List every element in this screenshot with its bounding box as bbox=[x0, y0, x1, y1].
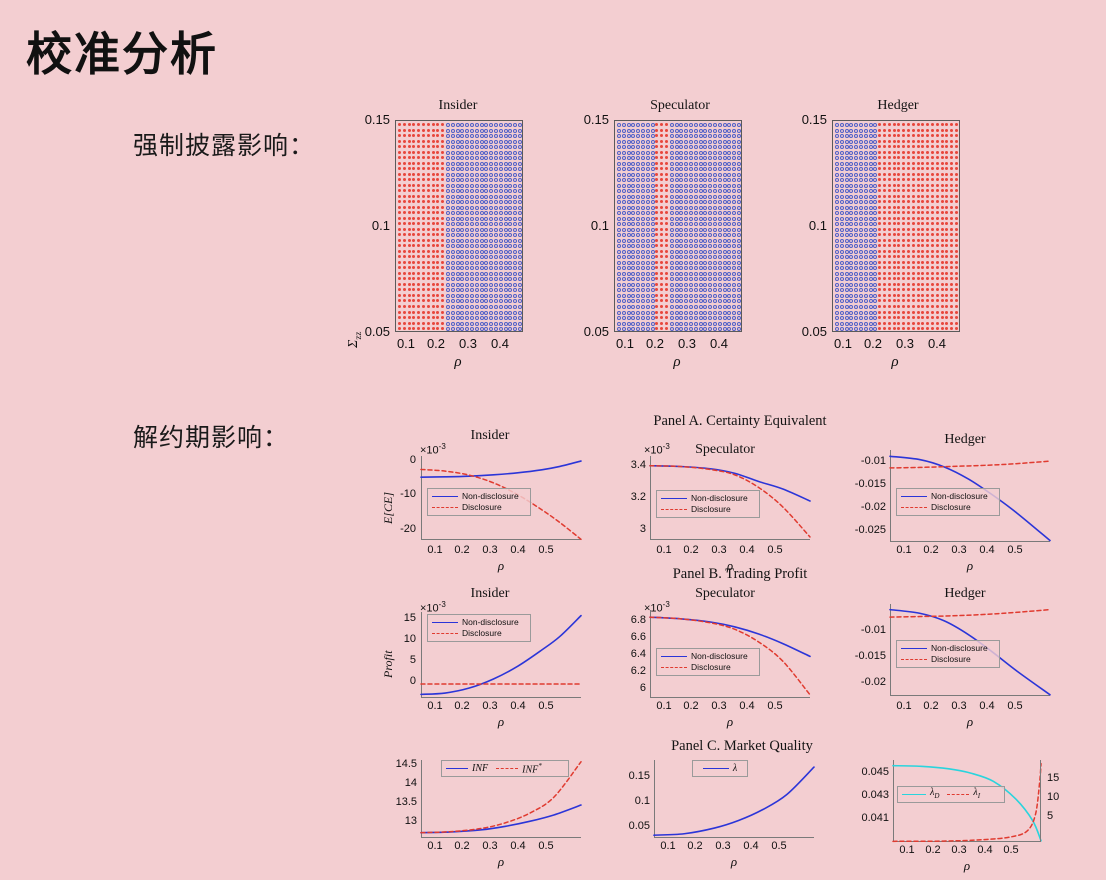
panelB-insider-xtick-05: 0.5 bbox=[534, 700, 558, 712]
panelA-insider-figure: Insider ×10-3 E[CE] 0 -10 -20 Non-disclo… bbox=[375, 428, 605, 558]
scatter-speculator-xtick-01: 0.1 bbox=[611, 336, 639, 351]
page-title: 校准分析 bbox=[26, 18, 218, 84]
panelB-hedger-ytick-001: -0.01 bbox=[840, 624, 886, 636]
panelA-insider-legend: Non-disclosure Disclosure bbox=[427, 488, 531, 516]
panelA-insider-multiplier: ×10-3 bbox=[420, 442, 446, 457]
panelA-hedger-legend: Non-disclosure Disclosure bbox=[896, 488, 1000, 516]
legend-swatch-disclosure bbox=[432, 633, 458, 634]
panelB-speculator-figure: Speculator ×10-3 6.8 6.6 6.4 6.2 6 Non-d… bbox=[610, 582, 840, 712]
panelB-insider-ytick-10: 10 bbox=[380, 633, 416, 645]
panelA-insider-xtick-02: 0.2 bbox=[450, 544, 474, 556]
legend-label-non-disclosure: Non-disclosure bbox=[691, 651, 748, 662]
scatter-speculator-ytick-005: 0.05 bbox=[563, 324, 609, 339]
label-maturity-impact: 解约期影响： bbox=[133, 418, 289, 454]
scatter-figure-group: Σzz Insider 0.15 0.1 0.05 0.1 0.2 0.3 0.… bbox=[330, 98, 1070, 378]
panelC-inf-ytick-14: 14 bbox=[375, 777, 417, 789]
panelC-lambda-legend: λ bbox=[692, 760, 748, 777]
scatter-insider-xtick-03: 0.3 bbox=[454, 336, 482, 351]
scatter-hedger-points bbox=[832, 120, 960, 332]
panelC-ldi-ytick-right-15: 15 bbox=[1047, 772, 1077, 784]
panelA-insider-ytick-m10: -10 bbox=[380, 488, 416, 500]
scatter-insider-xtick-02: 0.2 bbox=[422, 336, 450, 351]
legend-label-lambda-i: λI bbox=[973, 787, 980, 802]
legend-swatch-inf-star bbox=[496, 768, 518, 769]
legend-swatch-non-disclosure bbox=[432, 496, 458, 497]
panelA-hedger-title: Hedger bbox=[890, 432, 1040, 448]
panelB-hedger-xtick-02: 0.2 bbox=[919, 700, 943, 712]
panelC-inf-xtick-03: 0.3 bbox=[478, 840, 502, 852]
panelA-hedger-xtick-05: 0.5 bbox=[1003, 544, 1027, 556]
panelB-insider-xtick-04: 0.4 bbox=[506, 700, 530, 712]
panelC-ldi-ytick-right-5: 5 bbox=[1047, 810, 1077, 822]
legend-label-inf: INF bbox=[472, 763, 488, 774]
panelA-hedger-xtick-04: 0.4 bbox=[975, 544, 999, 556]
panelA-speculator-xtick-04: 0.4 bbox=[735, 544, 759, 556]
panelC-inf-xlabel: ρ bbox=[421, 854, 581, 870]
panelC-ldi-xtick-04: 0.4 bbox=[973, 844, 997, 856]
panelC-ldi-xtick-03: 0.3 bbox=[947, 844, 971, 856]
panelA-hedger-ytick-0015: -0.015 bbox=[840, 478, 886, 490]
scatter-hedger-xtick-01: 0.1 bbox=[829, 336, 857, 351]
panelC-lambda-xtick-04: 0.4 bbox=[739, 840, 763, 852]
panelB-hedger-xtick-01: 0.1 bbox=[892, 700, 916, 712]
panelC-lambda-ytick-005: 0.05 bbox=[610, 820, 650, 832]
panelB-speculator-xlabel: ρ bbox=[650, 714, 810, 730]
legend-label-non-disclosure: Non-disclosure bbox=[931, 643, 988, 654]
scatter-speculator-xtick-04: 0.4 bbox=[705, 336, 733, 351]
panelB-speculator-title: Speculator bbox=[650, 586, 800, 602]
panelA-speculator-ytick-32: 3.2 bbox=[610, 491, 646, 503]
scatter-speculator-xtick-02: 0.2 bbox=[641, 336, 669, 351]
panelA-speculator-multiplier: ×10-3 bbox=[644, 442, 670, 457]
panelA-insider-xtick-01: 0.1 bbox=[423, 544, 447, 556]
panelC-ldi-ytick-0041: 0.041 bbox=[845, 812, 889, 824]
panelB-speculator-xtick-05: 0.5 bbox=[763, 700, 787, 712]
panelB-hedger-legend: Non-disclosure Disclosure bbox=[896, 640, 1000, 668]
panelC-inf-xtick-02: 0.2 bbox=[450, 840, 474, 852]
scatter-speculator-ytick-01: 0.1 bbox=[563, 218, 609, 233]
scatter-speculator-ytick-015: 0.15 bbox=[563, 112, 609, 127]
legend-label-disclosure: Disclosure bbox=[931, 502, 971, 513]
panelC-ldi-xtick-02: 0.2 bbox=[921, 844, 945, 856]
panelC-ldi-ytick-right-10: 10 bbox=[1047, 791, 1077, 803]
panelC-inf-ytick-145: 14.5 bbox=[375, 758, 417, 770]
scatter-insider-ytick-015: 0.15 bbox=[344, 112, 390, 127]
legend-swatch-non-disclosure bbox=[901, 496, 927, 497]
scatter-insider-ytick-01: 0.1 bbox=[344, 218, 390, 233]
panelC-inf-legend: INF INF* bbox=[441, 760, 569, 777]
panelC-lambda-di-figure: 0.045 0.043 0.041 15 10 5 λD λI 0.1 0.2 … bbox=[845, 750, 1095, 880]
panelB-speculator-ytick-64: 6.4 bbox=[610, 648, 646, 660]
panelB-insider-xlabel: ρ bbox=[421, 714, 581, 730]
legend-label-non-disclosure: Non-disclosure bbox=[691, 493, 748, 504]
panelC-inf-xtick-04: 0.4 bbox=[506, 840, 530, 852]
legend-swatch-disclosure bbox=[432, 507, 458, 508]
panelB-speculator-legend: Non-disclosure Disclosure bbox=[656, 648, 760, 676]
panelB-insider-figure: Insider ×10-3 Profit 15 10 5 0 Non-discl… bbox=[375, 582, 605, 712]
legend-swatch-non-disclosure bbox=[661, 656, 687, 657]
series-- bbox=[654, 767, 814, 835]
panelA-insider-ytick-0: 0 bbox=[380, 454, 416, 466]
panelA-insider-ytick-m20: -20 bbox=[380, 523, 416, 535]
series-inf bbox=[421, 805, 581, 833]
panelB-hedger-ytick-0015: -0.015 bbox=[840, 650, 886, 662]
panelA-speculator-xtick-03: 0.3 bbox=[707, 544, 731, 556]
scatter-hedger-xlabel: ρ bbox=[830, 354, 960, 371]
legend-swatch-non-disclosure bbox=[901, 648, 927, 649]
legend-label-disclosure: Disclosure bbox=[462, 628, 502, 639]
scatter-hedger-ytick-01: 0.1 bbox=[781, 218, 827, 233]
panelA-insider-xtick-03: 0.3 bbox=[478, 544, 502, 556]
panelA-speculator-legend: Non-disclosure Disclosure bbox=[656, 490, 760, 518]
panelA-insider-xtick-05: 0.5 bbox=[534, 544, 558, 556]
legend-swatch-lambda bbox=[703, 768, 729, 769]
panelC-ldi-ytick-0045: 0.045 bbox=[845, 766, 889, 778]
legend-swatch-inf bbox=[446, 768, 468, 769]
series-non-disclosure bbox=[421, 461, 581, 477]
panelC-ldi-xtick-01: 0.1 bbox=[895, 844, 919, 856]
scatter-hedger-xtick-03: 0.3 bbox=[891, 336, 919, 351]
scatter-hedger-title: Hedger bbox=[828, 98, 968, 114]
label-disclosure-impact: 强制披露影响： bbox=[133, 126, 315, 162]
panelB-speculator-ytick-68: 6.8 bbox=[610, 614, 646, 626]
panelC-ldi-xtick-05: 0.5 bbox=[999, 844, 1023, 856]
series-disclosure bbox=[890, 610, 1050, 618]
series-disclosure bbox=[890, 461, 1050, 468]
legend-swatch-non-disclosure bbox=[661, 498, 687, 499]
legend-label-lambda-d: λD bbox=[930, 787, 939, 802]
scatter-hedger-ytick-015: 0.15 bbox=[781, 112, 827, 127]
panelC-lambda-ytick-015: 0.15 bbox=[610, 770, 650, 782]
panelA-speculator-xtick-01: 0.1 bbox=[652, 544, 676, 556]
legend-swatch-lambda-d bbox=[902, 794, 926, 795]
legend-label-lambda: λ bbox=[733, 763, 737, 774]
series--d bbox=[893, 766, 1041, 841]
panelB-hedger-ytick-002: -0.02 bbox=[840, 676, 886, 688]
panelB-insider-ytick-0: 0 bbox=[380, 675, 416, 687]
legend-label-non-disclosure: Non-disclosure bbox=[931, 491, 988, 502]
panelA-speculator-ytick-3: 3 bbox=[610, 523, 646, 535]
panelB-speculator-xtick-01: 0.1 bbox=[652, 700, 676, 712]
panelA-hedger-xlabel: ρ bbox=[890, 558, 1050, 574]
panelB-speculator-xtick-02: 0.2 bbox=[679, 700, 703, 712]
scatter-hedger-xtick-02: 0.2 bbox=[859, 336, 887, 351]
legend-label-non-disclosure: Non-disclosure bbox=[462, 491, 519, 502]
panelC-inf-ytick-13: 13 bbox=[375, 815, 417, 827]
panelA-hedger-xtick-03: 0.3 bbox=[947, 544, 971, 556]
scatter-insider-xtick-01: 0.1 bbox=[392, 336, 420, 351]
scatter-insider-xlabel: ρ bbox=[393, 354, 523, 371]
legend-swatch-lambda-i bbox=[947, 794, 969, 795]
legend-swatch-disclosure bbox=[661, 667, 687, 668]
panelB-speculator-ytick-6: 6 bbox=[610, 682, 646, 694]
panelA-hedger-xtick-02: 0.2 bbox=[919, 544, 943, 556]
panelC-lambda-xtick-05: 0.5 bbox=[767, 840, 791, 852]
panelC-inf-figure: 14.5 14 13.5 13 INF INF* 0.1 0.2 0.3 0.4… bbox=[375, 750, 605, 880]
panelC-ldi-ytick-0043: 0.043 bbox=[845, 789, 889, 801]
panelC-lambda-xtick-01: 0.1 bbox=[656, 840, 680, 852]
panelB-hedger-xtick-05: 0.5 bbox=[1003, 700, 1027, 712]
panelB-speculator-ytick-66: 6.6 bbox=[610, 631, 646, 643]
panelA-speculator-xtick-05: 0.5 bbox=[763, 544, 787, 556]
panelB-speculator-xtick-03: 0.3 bbox=[707, 700, 731, 712]
scatter-hedger-xtick-04: 0.4 bbox=[923, 336, 951, 351]
panelA-speculator-xtick-02: 0.2 bbox=[679, 544, 703, 556]
scatter-insider-ytick-005: 0.05 bbox=[344, 324, 390, 339]
scatter-insider-points bbox=[395, 120, 523, 332]
panelB-insider-xtick-03: 0.3 bbox=[478, 700, 502, 712]
legend-swatch-disclosure bbox=[661, 509, 687, 510]
scatter-speculator-points bbox=[614, 120, 742, 332]
panelC-ldi-xlabel: ρ bbox=[893, 858, 1041, 874]
panelA-hedger-ytick-0025: -0.025 bbox=[840, 524, 886, 536]
legend-label-disclosure: Disclosure bbox=[462, 502, 502, 513]
legend-label-inf-star: INF* bbox=[522, 761, 542, 775]
panelC-lambda-figure: 0.15 0.1 0.05 λ 0.1 0.2 0.3 0.4 0.5 ρ bbox=[610, 750, 840, 880]
panelA-speculator-xlabel: ρ bbox=[650, 558, 810, 574]
legend-swatch-disclosure bbox=[901, 659, 927, 660]
panelB-hedger-title: Hedger bbox=[890, 586, 1040, 602]
panelC-lambda-xtick-03: 0.3 bbox=[711, 840, 735, 852]
panelA-hedger-figure: Hedger -0.01 -0.015 -0.02 -0.025 Non-dis… bbox=[840, 428, 1080, 558]
panelC-inf-xtick-05: 0.5 bbox=[534, 840, 558, 852]
panelB-hedger-xlabel: ρ bbox=[890, 714, 1050, 730]
scatter-insider-title: Insider bbox=[393, 98, 523, 114]
panelC-lambda-ytick-01: 0.1 bbox=[610, 795, 650, 807]
panelB-insider-xtick-02: 0.2 bbox=[450, 700, 474, 712]
panelA-insider-xlabel: ρ bbox=[421, 558, 581, 574]
panelB-hedger-xtick-04: 0.4 bbox=[975, 700, 999, 712]
panelB-hedger-xtick-03: 0.3 bbox=[947, 700, 971, 712]
legend-label-non-disclosure: Non-disclosure bbox=[462, 617, 519, 628]
scatter-speculator-title: Speculator bbox=[610, 98, 750, 114]
panelA-hedger-xtick-01: 0.1 bbox=[892, 544, 916, 556]
legend-swatch-non-disclosure bbox=[432, 622, 458, 623]
panelC-lambda-xtick-02: 0.2 bbox=[683, 840, 707, 852]
scatter-speculator-xlabel: ρ bbox=[612, 354, 742, 371]
legend-label-disclosure: Disclosure bbox=[931, 654, 971, 665]
scatter-insider-xtick-04: 0.4 bbox=[486, 336, 514, 351]
legend-label-disclosure: Disclosure bbox=[691, 504, 731, 515]
panelB-insider-xtick-01: 0.1 bbox=[423, 700, 447, 712]
panelA-insider-xtick-04: 0.4 bbox=[506, 544, 530, 556]
panelC-inf-xtick-01: 0.1 bbox=[423, 840, 447, 852]
scatter-hedger-ytick-005: 0.05 bbox=[781, 324, 827, 339]
panelB-hedger-figure: Hedger -0.01 -0.015 -0.02 Non-disclosure… bbox=[840, 582, 1080, 712]
panelC-inf-ytick-135: 13.5 bbox=[375, 796, 417, 808]
panelB-insider-ytick-5: 5 bbox=[380, 654, 416, 666]
panelA-speculator-figure: Speculator ×10-3 3.4 3.2 3 Non-disclosur… bbox=[610, 428, 840, 558]
panelC-lambda-di-legend: λD λI bbox=[897, 786, 1005, 803]
panelA-hedger-ytick-001: -0.01 bbox=[840, 455, 886, 467]
legend-label-disclosure: Disclosure bbox=[691, 662, 731, 673]
panelB-insider-ytick-15: 15 bbox=[380, 612, 416, 624]
slide-root: 校准分析 强制披露影响： 解约期影响： Σzz Insider 0.15 0.1… bbox=[0, 0, 1106, 879]
panelB-speculator-ytick-62: 6.2 bbox=[610, 665, 646, 677]
panelB-insider-legend: Non-disclosure Disclosure bbox=[427, 614, 531, 642]
panelC-lambda-xlabel: ρ bbox=[654, 854, 814, 870]
panelB-speculator-xtick-04: 0.4 bbox=[735, 700, 759, 712]
legend-swatch-disclosure bbox=[901, 507, 927, 508]
scatter-speculator-xtick-03: 0.3 bbox=[673, 336, 701, 351]
panelA-speculator-ytick-34: 3.4 bbox=[610, 459, 646, 471]
panelA-hedger-ytick-002: -0.02 bbox=[840, 501, 886, 513]
